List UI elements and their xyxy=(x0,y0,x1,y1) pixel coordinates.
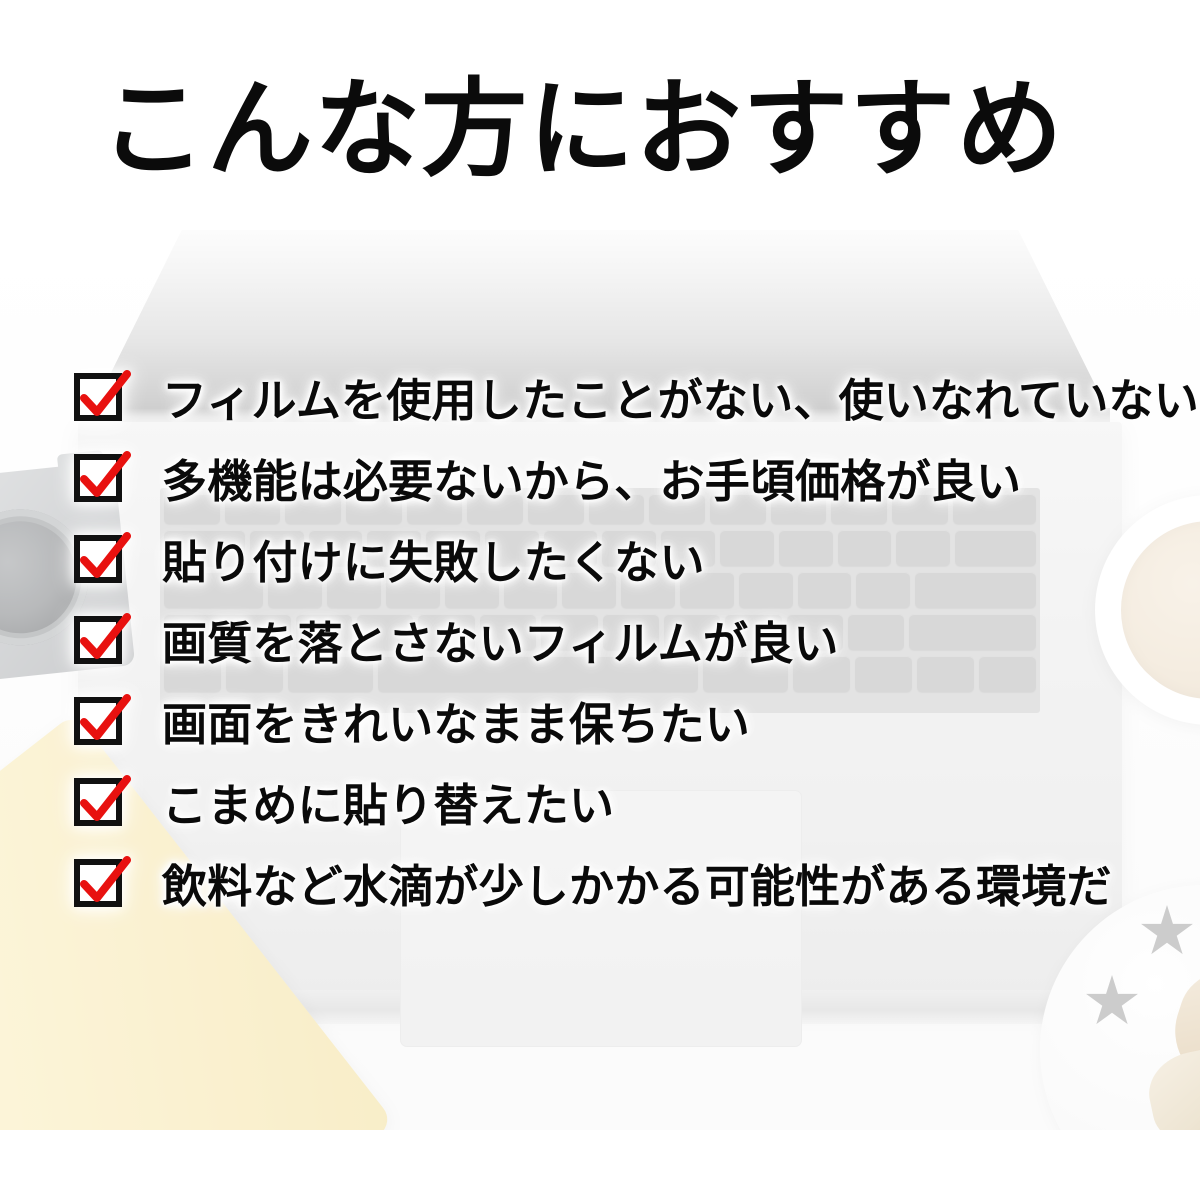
checked-checkbox-icon xyxy=(74,372,128,422)
page-title: こんな方におすすめ xyxy=(100,72,1064,189)
list-item: 飲料など水滴が少しかかる可能性がある環境だ xyxy=(0,842,1200,923)
list-item-label: こまめに貼り替えたい xyxy=(162,769,614,834)
poster-canvas: こんな方におすすめ フィルムを使用したことがない、使いなれていない 多機能は必要… xyxy=(0,0,1200,1200)
list-item-label: 多機能は必要ないから、お手頃価格が良い xyxy=(162,445,1021,510)
checked-checkbox-icon xyxy=(74,696,128,746)
checked-checkbox-icon xyxy=(74,777,128,827)
list-item: 画面をきれいなまま保ちたい xyxy=(0,680,1200,761)
list-item-label: 飲料など水滴が少しかかる可能性がある環境だ xyxy=(162,850,1112,915)
list-item: こまめに貼り替えたい xyxy=(0,761,1200,842)
list-item-label: 画面をきれいなまま保ちたい xyxy=(162,688,750,753)
checked-checkbox-icon xyxy=(74,858,128,908)
list-item-label: 貼り付けに失敗したくない xyxy=(162,526,705,591)
list-item-label: 画質を落とさないフィルムが良い xyxy=(162,607,839,672)
notebook-spine xyxy=(0,943,100,1130)
recommendation-checklist: フィルムを使用したことがない、使いなれていない 多機能は必要ないから、お手頃価格… xyxy=(0,356,1200,923)
checked-checkbox-icon xyxy=(74,453,128,503)
list-item: 貼り付けに失敗したくない xyxy=(0,518,1200,599)
list-item: フィルムを使用したことがない、使いなれていない xyxy=(0,356,1200,437)
list-item: 多機能は必要ないから、お手頃価格が良い xyxy=(0,437,1200,518)
list-item-label: フィルムを使用したことがない、使いなれていない xyxy=(162,364,1199,429)
checked-checkbox-icon xyxy=(74,615,128,665)
checked-checkbox-icon xyxy=(74,534,128,584)
list-item: 画質を落とさないフィルムが良い xyxy=(0,599,1200,680)
